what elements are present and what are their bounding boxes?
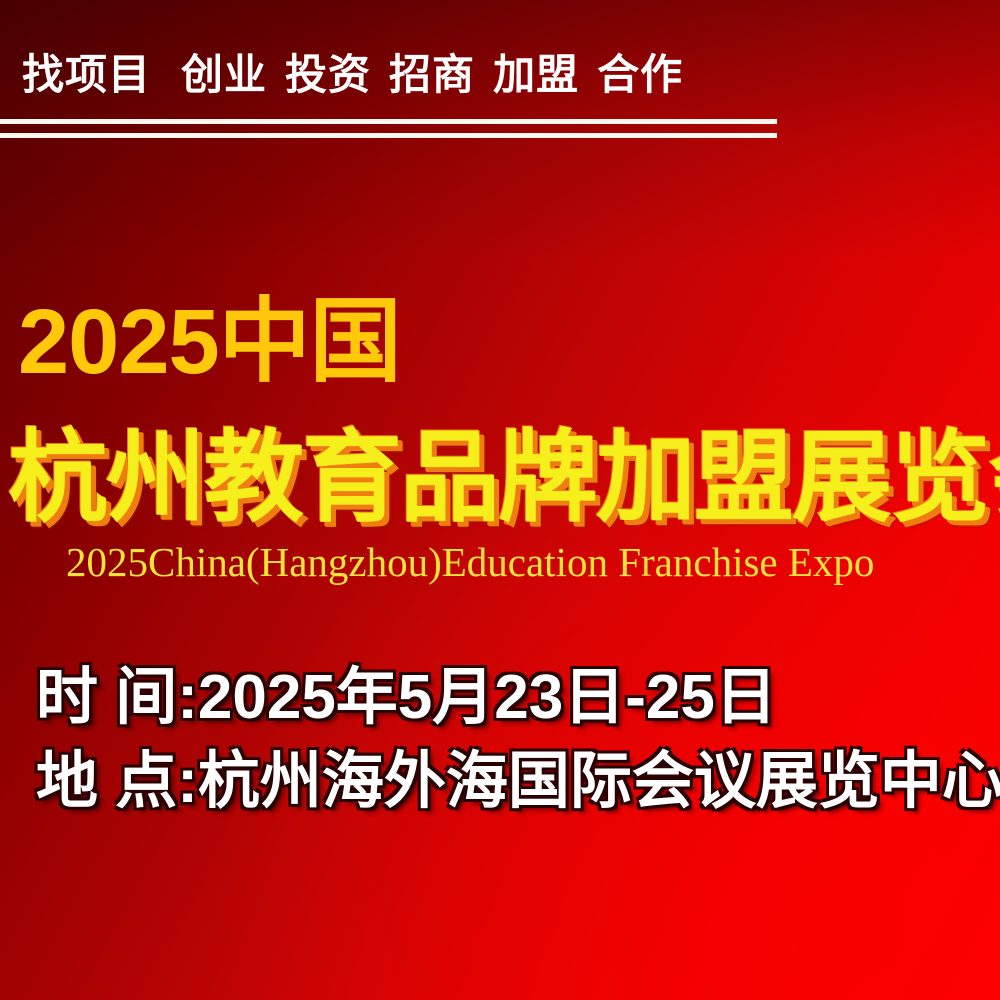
nav-item-startup[interactable]: 创业 — [181, 54, 267, 96]
event-venue-line: 地 点:杭州海外海国际会议展览中心 — [36, 740, 1000, 824]
nav-item-cooperation[interactable]: 合作 — [597, 54, 683, 96]
divider-rule-top — [0, 119, 777, 124]
top-nav: 找项目 创业 投资 招商 加盟 合作 — [22, 54, 683, 96]
event-details: 时 间:2025年5月23日-25日 地 点:杭州海外海国际会议展览中心 — [36, 656, 1000, 825]
event-date-line: 时 间:2025年5月23日-25日 — [36, 656, 1000, 740]
divider-rule-bottom — [0, 133, 777, 138]
expo-poster: 找项目 创业 投资 招商 加盟 合作 2025中国 杭州教育品牌加盟展览会 20… — [0, 0, 1000, 1000]
nav-item-investment[interactable]: 投资 — [285, 54, 371, 96]
nav-item-franchise[interactable]: 加盟 — [493, 54, 579, 96]
headline-english-subtitle: 2025China(Hangzhou)Education Franchise E… — [66, 538, 874, 587]
nav-item-merchant-recruitment[interactable]: 招商 — [389, 54, 475, 96]
nav-item-find-project[interactable]: 找项目 — [22, 54, 151, 96]
headline-main-title: 杭州教育品牌加盟展览会 — [8, 428, 1000, 528]
headline-year-line: 2025中国 — [18, 296, 401, 388]
